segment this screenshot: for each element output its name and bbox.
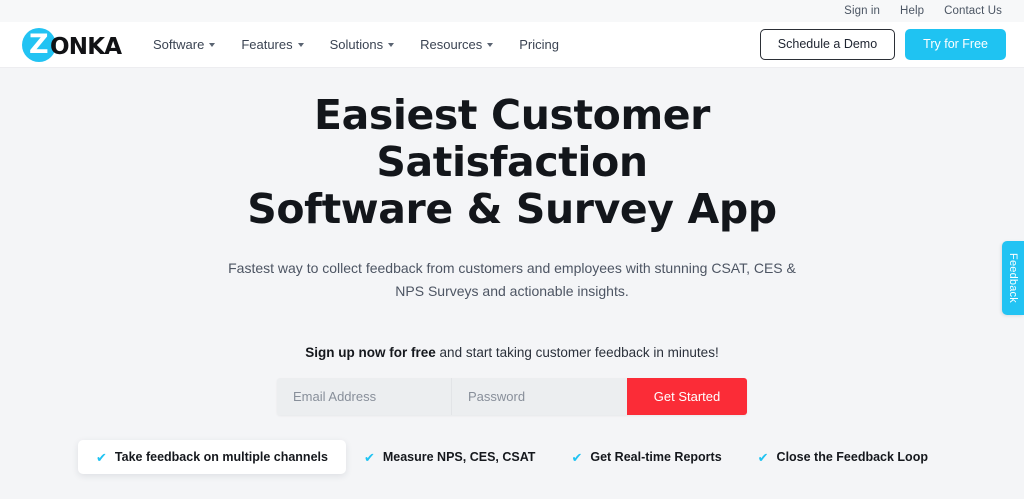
feature-badge-row: ✔ Take feedback on multiple channels ✔ M… (0, 440, 1024, 474)
utility-bar: Sign in Help Contact Us (0, 0, 1024, 22)
feature-badge-close-loop[interactable]: ✔ Close the Feedback Loop (740, 440, 946, 474)
check-icon: ✔ (96, 451, 107, 464)
get-started-button[interactable]: Get Started (627, 378, 747, 415)
chevron-down-icon (209, 43, 215, 47)
hero-subtitle: Fastest way to collect feedback from cus… (225, 257, 800, 303)
header-actions: Schedule a Demo Try for Free (760, 29, 1006, 60)
check-icon: ✔ (758, 451, 769, 464)
hero-title-line-2: Software & Survey App (247, 185, 777, 233)
page-title: Easiest Customer Satisfaction Software &… (192, 92, 832, 233)
nav-item-label: Pricing (519, 37, 559, 52)
hero-section: Easiest Customer Satisfaction Software &… (0, 68, 1024, 415)
nav-item-label: Solutions (330, 37, 383, 52)
nav-item-label: Resources (420, 37, 482, 52)
nav-item-solutions[interactable]: Solutions (317, 31, 407, 58)
signup-prompt-bold: Sign up now for free (305, 345, 436, 360)
check-icon: ✔ (571, 451, 582, 464)
check-icon: ✔ (364, 451, 375, 464)
hero-title-line-1: Easiest Customer Satisfaction (314, 91, 710, 186)
nav-item-label: Features (241, 37, 292, 52)
feature-badge-label: Get Real-time Reports (590, 450, 721, 464)
signup-prompt: Sign up now for free and start taking cu… (0, 345, 1024, 360)
schedule-demo-button[interactable]: Schedule a Demo (760, 29, 895, 60)
utility-link-sign-in[interactable]: Sign in (844, 0, 880, 22)
email-field[interactable] (277, 378, 452, 415)
feature-badge-multiple-channels[interactable]: ✔ Take feedback on multiple channels (78, 440, 346, 474)
nav-item-pricing[interactable]: Pricing (506, 31, 572, 58)
feedback-side-tab[interactable]: Feedback (1002, 241, 1024, 315)
utility-link-help[interactable]: Help (900, 0, 924, 22)
logo-wordmark: ONKA (50, 35, 121, 59)
utility-link-contact-us[interactable]: Contact Us (944, 0, 1002, 22)
chevron-down-icon (298, 43, 304, 47)
try-for-free-button[interactable]: Try for Free (905, 29, 1006, 60)
logo-mark-letter: Z (29, 31, 48, 59)
logo-zonka[interactable]: Z ONKA (18, 25, 118, 65)
signup-prompt-rest: and start taking customer feedback in mi… (436, 345, 719, 360)
feature-badge-label: Take feedback on multiple channels (115, 450, 328, 464)
nav-item-software[interactable]: Software (140, 31, 228, 58)
feature-badge-label: Close the Feedback Loop (777, 450, 928, 464)
feature-badge-measure-nps[interactable]: ✔ Measure NPS, CES, CSAT (346, 440, 554, 474)
feedback-side-tab-label: Feedback (1007, 253, 1019, 303)
signup-form: Get Started (277, 378, 747, 415)
landing-page: Sign in Help Contact Us Z ONKA Software … (0, 0, 1024, 499)
nav-item-resources[interactable]: Resources (407, 31, 506, 58)
feature-badge-label: Measure NPS, CES, CSAT (383, 450, 536, 464)
chevron-down-icon (388, 43, 394, 47)
nav-item-features[interactable]: Features (228, 31, 316, 58)
feature-badge-realtime-reports[interactable]: ✔ Get Real-time Reports (553, 440, 739, 474)
password-field[interactable] (452, 378, 627, 415)
site-header: Z ONKA Software Features Solutions Resou… (0, 22, 1024, 68)
primary-navigation: Software Features Solutions Resources Pr… (140, 31, 572, 58)
chevron-down-icon (487, 43, 493, 47)
nav-item-label: Software (153, 37, 204, 52)
